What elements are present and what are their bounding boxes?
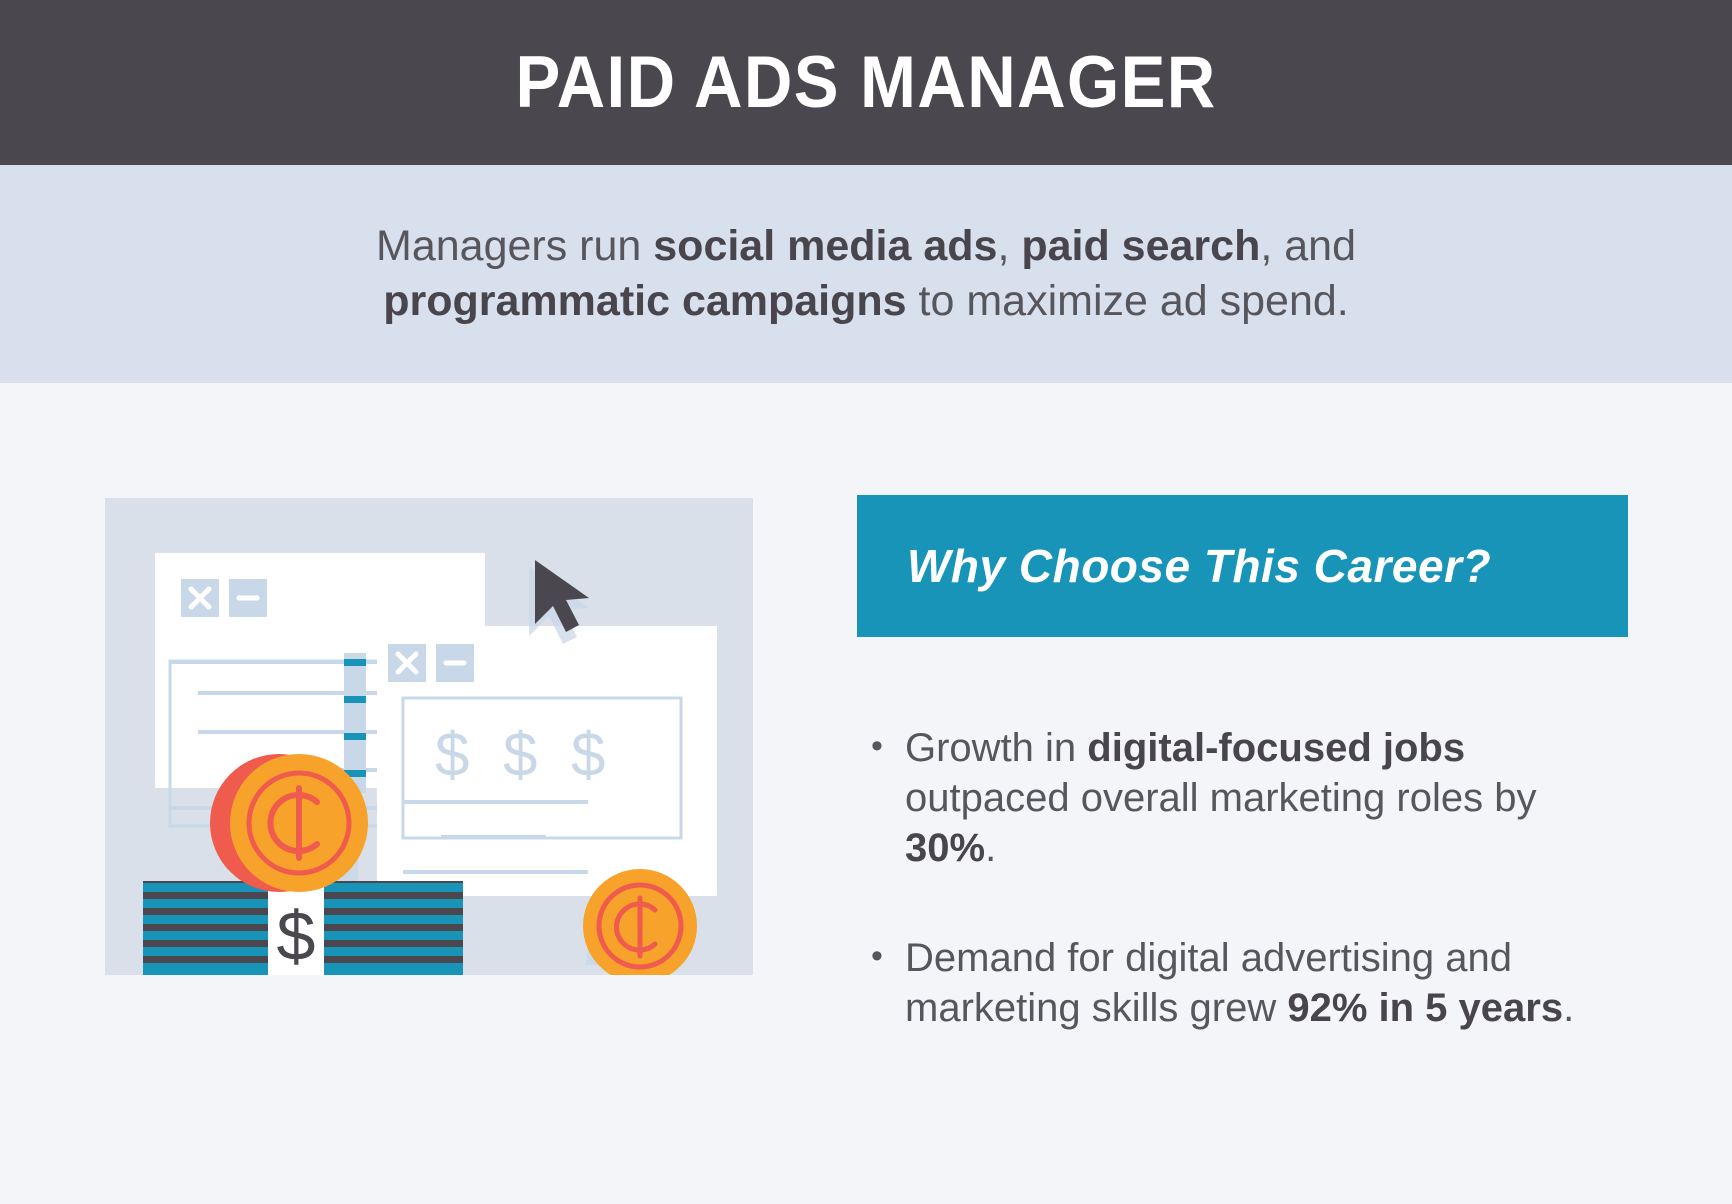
career-banner-title: Why Choose This Career? xyxy=(907,543,1491,589)
career-bullet-list: • Growth in digital-focused jobs outpace… xyxy=(857,723,1628,1033)
subtitle-band: Managers run social media ads, paid sear… xyxy=(0,165,1732,383)
list-item: • Growth in digital-focused jobs outpace… xyxy=(857,723,1628,873)
bullet-marker: • xyxy=(857,933,905,980)
subtitle-text: Managers run social media ads, paid sear… xyxy=(266,219,1466,329)
scrollbar-track[interactable] xyxy=(344,653,366,793)
main-content: $ $ $ xyxy=(0,383,1732,1204)
list-item: • Demand for digital advertising and mar… xyxy=(857,933,1628,1033)
bullet-text: Demand for digital advertising and marke… xyxy=(905,933,1585,1033)
dollar-glyph: $ xyxy=(435,721,469,790)
dollar-symbols: $ $ $ xyxy=(435,721,605,790)
scroll-tick xyxy=(344,696,366,703)
career-column: Why Choose This Career? • Growth in digi… xyxy=(857,495,1628,1093)
cash-band-glyph: $ xyxy=(277,897,316,975)
window-front-body xyxy=(377,626,717,896)
paid-ads-illustration: $ $ $ xyxy=(105,498,753,975)
illustration-svg: $ $ $ xyxy=(105,498,753,975)
cent-coin-large xyxy=(210,754,368,892)
page-title: PAID ADS MANAGER xyxy=(515,46,1216,119)
scroll-tick xyxy=(344,659,366,666)
scroll-tick xyxy=(344,733,366,740)
bullet-text: Growth in digital-focused jobs outpaced … xyxy=(905,723,1585,873)
dollar-glyph: $ xyxy=(571,721,605,790)
header-band: PAID ADS MANAGER xyxy=(0,0,1732,165)
dollar-glyph: $ xyxy=(503,721,537,790)
bullet-marker: • xyxy=(857,723,905,770)
career-banner: Why Choose This Career? xyxy=(857,495,1628,637)
browser-window-front: $ $ $ xyxy=(377,626,717,896)
